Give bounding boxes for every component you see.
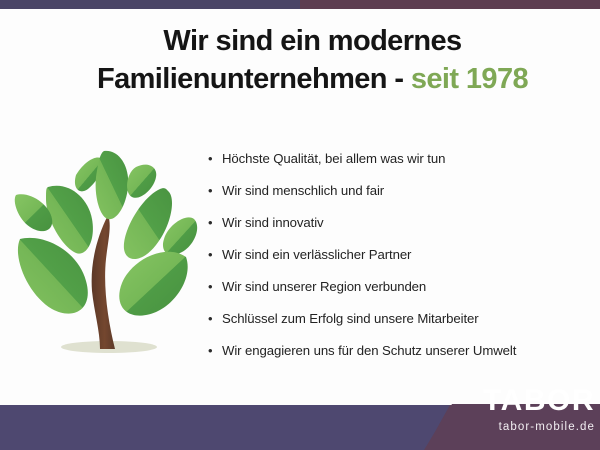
slide-canvas: Wir sind ein modernes Familienunternehme…	[0, 0, 600, 450]
list-item-label: Schlüssel zum Erfolg sind unsere Mitarbe…	[222, 303, 479, 335]
bullet-marker-icon: •	[208, 175, 222, 207]
list-item: • Wir engagieren uns für den Schutz unse…	[208, 335, 598, 367]
page-title-accent: seit 1978	[411, 63, 528, 95]
tree-leaf-2	[96, 151, 129, 219]
top-accent-bar	[0, 0, 600, 9]
bullet-marker-icon: •	[208, 271, 222, 303]
top-accent-bar-left	[0, 0, 300, 9]
tree-leaf-9	[119, 252, 187, 316]
bullet-marker-icon: •	[208, 335, 222, 367]
list-item: • Schlüssel zum Erfolg sind unsere Mitar…	[208, 303, 598, 335]
list-item: • Wir sind unserer Region verbunden	[208, 271, 598, 303]
bullet-marker-icon: •	[208, 239, 222, 271]
bullet-marker-icon: •	[208, 207, 222, 239]
bullet-list: • Höchste Qualität, bei allem was wir tu…	[208, 143, 598, 367]
page-title-line1: Wir sind ein modernes	[40, 22, 585, 60]
brand-logo-wordmark: TABOR	[455, 386, 595, 416]
list-item-label: Wir engagieren uns für den Schutz unsere…	[222, 335, 516, 367]
tree-trunk	[92, 215, 115, 349]
list-item-label: Wir sind ein verlässlicher Partner	[222, 239, 411, 271]
bullet-marker-icon: •	[208, 143, 222, 175]
list-item-label: Wir sind unserer Region verbunden	[222, 271, 426, 303]
tree-leaf-3	[127, 165, 156, 198]
bullet-marker-icon: •	[208, 303, 222, 335]
page-title: Wir sind ein modernes Familienunternehme…	[40, 22, 585, 99]
list-item: • Wir sind menschlich und fair	[208, 175, 598, 207]
page-title-line2: Familienunternehmen - seit 1978	[40, 60, 585, 98]
list-item: • Wir sind innovativ	[208, 207, 598, 239]
list-item-label: Höchste Qualität, bei allem was wir tun	[222, 143, 445, 175]
list-item: • Höchste Qualität, bei allem was wir tu…	[208, 143, 598, 175]
brand-logo-domain: tabor-mobile.de	[455, 422, 595, 434]
page-title-line2-main: Familienunternehmen -	[97, 63, 411, 95]
tree-illustration	[8, 135, 203, 375]
list-item-label: Wir sind innovativ	[222, 207, 324, 239]
list-item: • Wir sind ein verlässlicher Partner	[208, 239, 598, 271]
top-accent-bar-right	[300, 0, 600, 9]
brand-logo[interactable]: TABOR tabor-mobile.de	[455, 386, 595, 434]
list-item-label: Wir sind menschlich und fair	[222, 175, 384, 207]
